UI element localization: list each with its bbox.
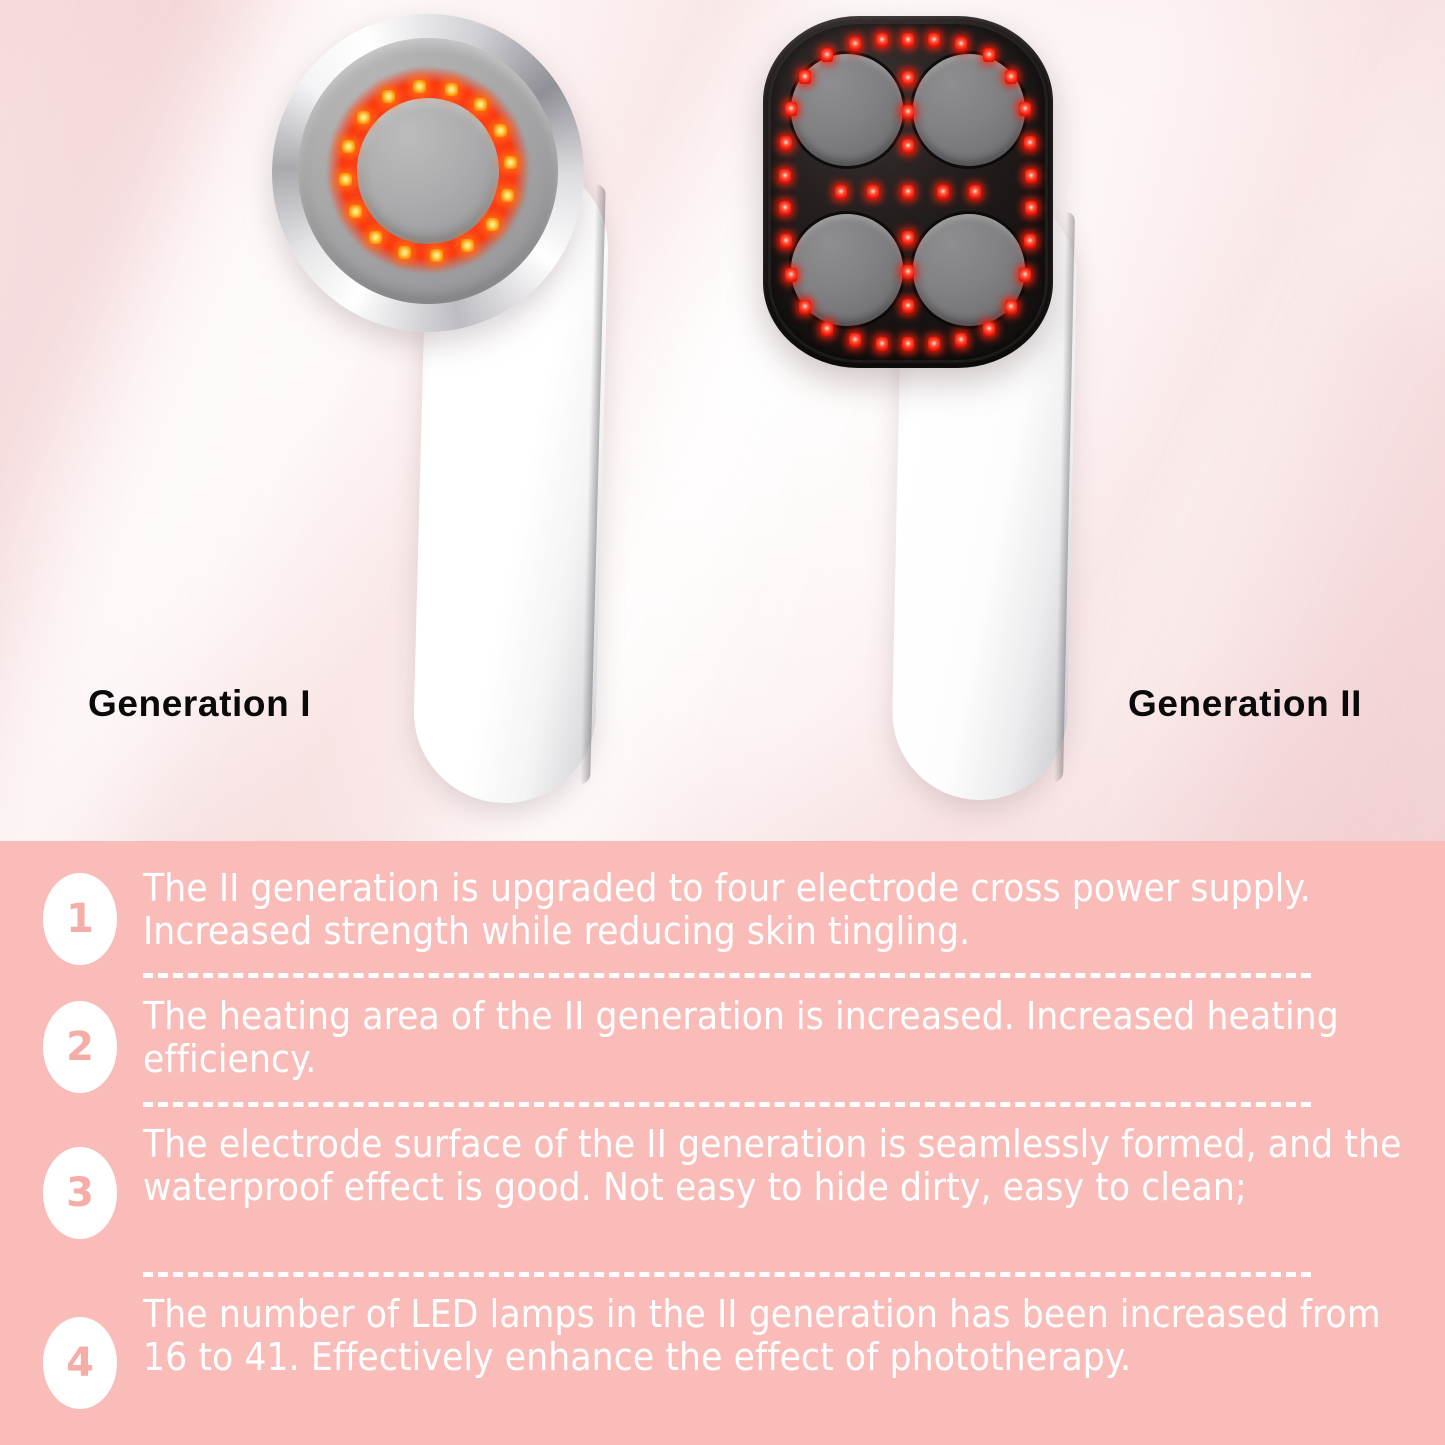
- led-indicator: [849, 37, 861, 51]
- led-indicator: [983, 48, 995, 62]
- led-indicator: [1024, 234, 1036, 248]
- led-indicator: [867, 185, 879, 199]
- feature-number-badge: 1: [43, 873, 117, 965]
- led-indicator: [969, 185, 981, 199]
- led-indicator: [902, 71, 914, 85]
- led-indicator: [955, 333, 967, 347]
- led-indicator: [342, 140, 355, 153]
- feature-divider: [143, 1272, 1311, 1277]
- led-indicator: [835, 185, 847, 199]
- led-indicator: [821, 48, 833, 62]
- generation-one-label: Generation I: [88, 683, 311, 725]
- led-indicator: [461, 239, 474, 252]
- led-indicator: [779, 201, 791, 215]
- led-indicator: [902, 265, 914, 279]
- led-indicator: [799, 70, 811, 84]
- led-indicator: [430, 249, 443, 262]
- led-indicator: [1005, 70, 1017, 84]
- led-indicator: [983, 322, 995, 336]
- led-indicator: [902, 185, 914, 199]
- feature-list-panel: 1 The II generation is upgraded to four …: [0, 841, 1445, 1445]
- led-indicator: [339, 173, 352, 186]
- led-indicator: [1025, 169, 1037, 183]
- led-indicator: [1024, 136, 1036, 150]
- led-indicator: [902, 105, 914, 119]
- feature-divider: [143, 1102, 1311, 1107]
- device-generation-one: [268, 8, 608, 808]
- led-indicator: [1019, 102, 1031, 116]
- led-indicator: [398, 246, 411, 259]
- product-comparison-infographic: Generation I Generation II 1 The II gene…: [0, 0, 1445, 1445]
- led-indicator: [1019, 268, 1031, 282]
- device-two-head: [763, 16, 1053, 368]
- led-indicator: [486, 218, 499, 231]
- led-indicator: [955, 37, 967, 51]
- led-indicator: [785, 268, 797, 282]
- led-indicator: [504, 156, 517, 169]
- led-indicator: [494, 124, 507, 137]
- led-indicator: [1025, 201, 1037, 215]
- feature-text: The II generation is upgraded to four el…: [143, 867, 1419, 953]
- led-indicator: [779, 169, 791, 183]
- led-indicator: [876, 33, 888, 47]
- led-indicator: [902, 299, 914, 313]
- device-one-head: [268, 8, 598, 348]
- feature-number-badge: 2: [43, 1001, 117, 1093]
- led-indicator: [780, 234, 792, 248]
- led-indicator: [902, 231, 914, 245]
- led-indicator: [928, 337, 940, 351]
- feature-number-badge: 3: [43, 1147, 117, 1239]
- led-indicator: [799, 300, 811, 314]
- hero-product-area: Generation I Generation II: [0, 0, 1445, 841]
- inner-electrode-disc: [357, 98, 499, 244]
- led-indicator: [849, 333, 861, 347]
- led-indicator: [501, 189, 514, 202]
- led-indicator: [1005, 300, 1017, 314]
- feature-text: The heating area of the II generation is…: [143, 995, 1419, 1081]
- feature-text: The number of LED lamps in the II genera…: [143, 1293, 1419, 1379]
- device-generation-two: [757, 10, 1087, 810]
- led-indicator: [902, 337, 914, 351]
- led-indicator: [369, 231, 382, 244]
- led-indicator: [902, 33, 914, 47]
- led-indicator: [445, 83, 458, 96]
- led-indicator: [821, 322, 833, 336]
- led-indicator: [780, 136, 792, 150]
- led-indicator: [937, 185, 949, 199]
- feature-divider: [143, 973, 1311, 978]
- led-indicator: [474, 98, 487, 111]
- feature-number-badge: 4: [43, 1317, 117, 1409]
- led-indicator: [928, 33, 940, 47]
- led-indicator: [785, 102, 797, 116]
- led-indicator: [349, 205, 362, 218]
- led-indicator: [357, 111, 370, 124]
- feature-text: The electrode surface of the II generati…: [143, 1123, 1419, 1209]
- generation-two-label: Generation II: [1128, 683, 1362, 725]
- led-indicator: [902, 139, 914, 153]
- led-indicator: [876, 337, 888, 351]
- led-indicator: [382, 90, 395, 103]
- led-indicator: [413, 80, 426, 93]
